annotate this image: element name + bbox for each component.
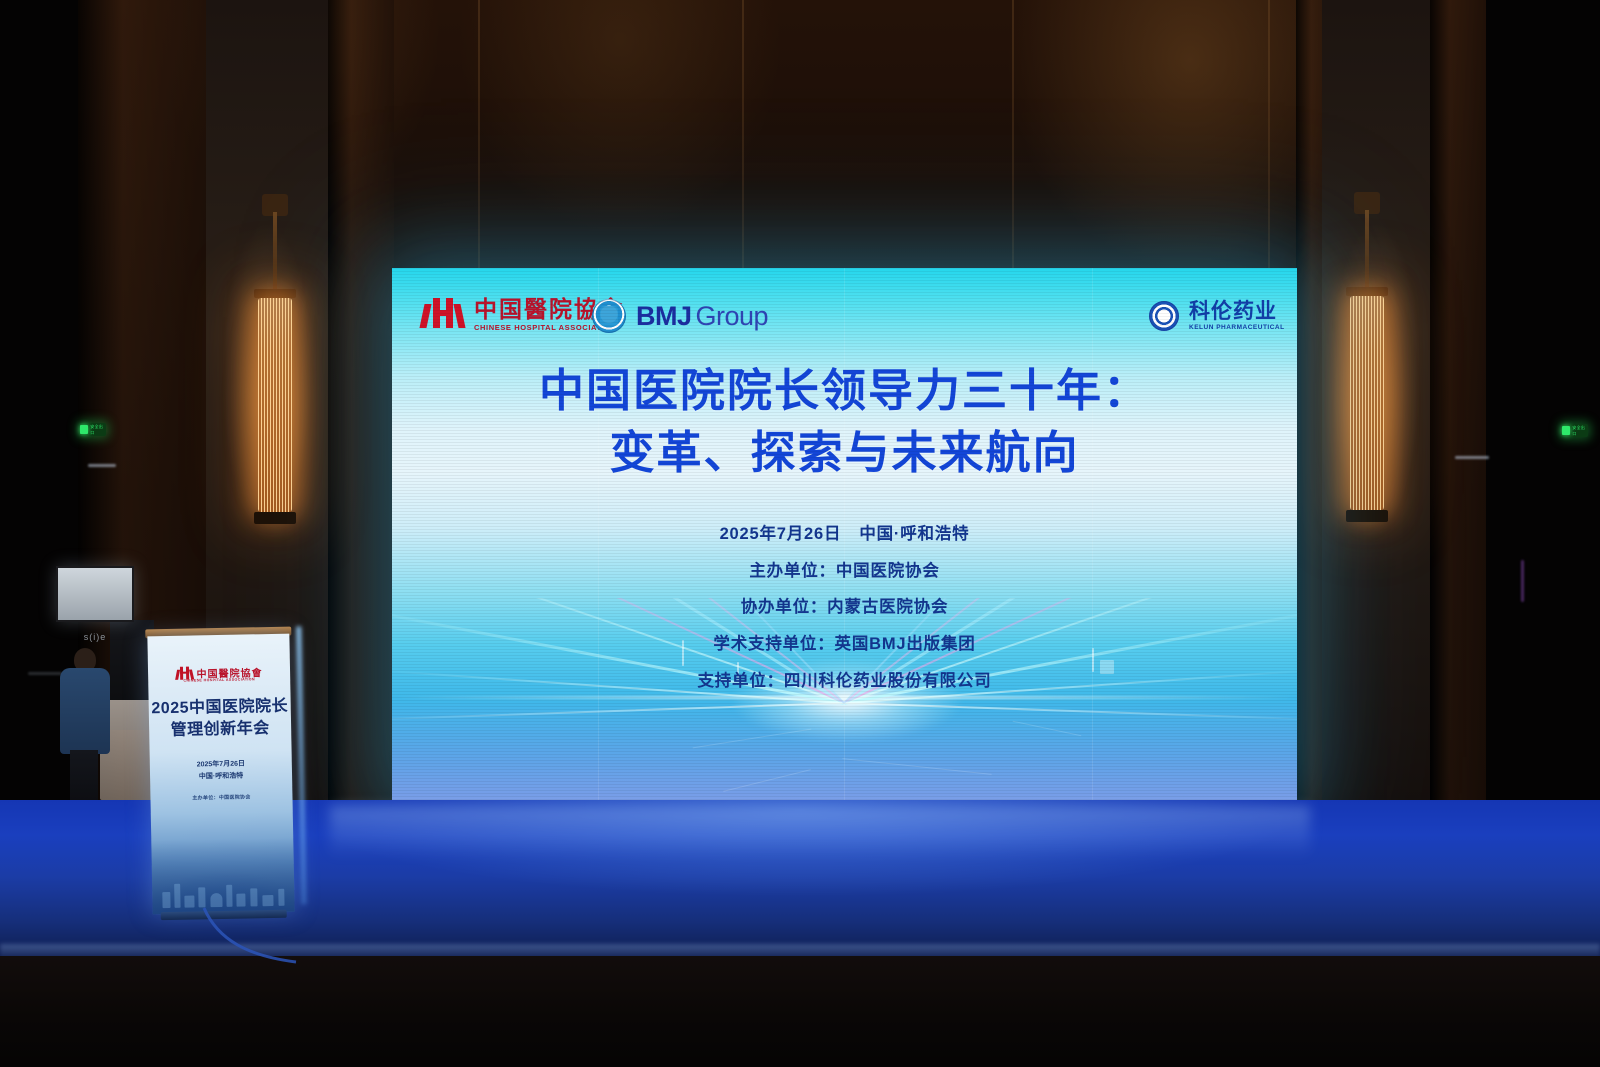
standee-title: 2025中国医院院长 管理创新年会 <box>149 696 292 743</box>
event-details: 2025年7月26日中国·呼和浩特 主办单位：中国医院协会 协办单位：内蒙古医院… <box>392 516 1297 699</box>
sconce-rod <box>273 212 277 298</box>
standee-organizer: 主办单位：中国医院协会 <box>150 793 292 803</box>
event-location: 中国·呼和浩特 <box>859 525 969 543</box>
event-detail-sponsor: 支持单位：四川科伦药业股份有限公司 <box>392 663 1297 700</box>
accent-light-sliver <box>1521 560 1524 602</box>
floor-light-sliver <box>28 672 62 675</box>
standee-skyline-graphic <box>151 838 294 915</box>
standee-meta: 2025年7月26日 中国·呼和浩特 <box>150 758 292 785</box>
wall-dark-column <box>1486 0 1600 830</box>
exit-sign-label: 安全出口 <box>1572 425 1588 437</box>
conference-stage-scene: 安全出口 安全出口 s(i)e <box>0 0 1600 1067</box>
background-person <box>58 648 110 808</box>
standee-title-line-1: 2025中国医院院长 <box>149 696 291 721</box>
led-stage-screen: 中国醫院協會 CHINESE HOSPITAL ASSOCIATION BMJG… <box>392 268 1297 806</box>
event-title-line-2: 变革、探索与未来航向 <box>392 422 1297 484</box>
event-title: 中国医院院长领导力三十年： 变革、探索与未来航向 <box>392 360 1297 484</box>
background-monitor <box>56 566 134 622</box>
kelun-seal-icon <box>1149 301 1179 331</box>
event-detail-academic-support: 学术支持单位：英国BMJ出版集团 <box>392 626 1297 663</box>
kelun-logo-en: KELUN PHARMACEUTICAL <box>1189 325 1285 332</box>
standee-cha-en: CHINESE HOSPITAL ASSOCIATION <box>148 677 290 684</box>
sconce-cap-bottom <box>1346 510 1388 522</box>
sconce-cap-top <box>254 289 296 298</box>
stage-floor-sheen <box>330 806 1310 858</box>
event-detail-organizer: 主办单位：中国医院协会 <box>392 553 1297 590</box>
bmj-word-suffix: Group <box>696 301 769 331</box>
running-man-icon <box>1562 426 1570 435</box>
bmj-seal-icon <box>592 299 626 333</box>
kelun-logo-text: 科伦药业 KELUN PHARMACEUTICAL <box>1189 301 1285 332</box>
led-screen-content: 中国醫院協會 CHINESE HOSPITAL ASSOCIATION BMJG… <box>392 268 1297 806</box>
bmj-word-main: BMJ <box>636 301 692 331</box>
podium-standee: 中国醫院協會 CHINESE HOSPITAL ASSOCIATION 2025… <box>137 626 303 919</box>
running-man-icon <box>80 425 88 434</box>
bmj-seal-inner <box>600 306 618 326</box>
podium-power-cable <box>200 906 340 966</box>
ceiling-light-sliver <box>88 464 116 467</box>
kelun-pharmaceutical-logo: 科伦药业 KELUN PHARMACEUTICAL <box>1149 301 1285 332</box>
stage-front-apron <box>0 956 1600 1067</box>
sconce-tube <box>258 298 292 512</box>
kelun-logo-cn: 科伦药业 <box>1189 301 1285 322</box>
exit-sign-left: 安全出口 <box>80 423 106 436</box>
exit-sign-right: 安全出口 <box>1562 424 1588 437</box>
wall-wood-column <box>1430 0 1486 830</box>
bmj-group-logo: BMJGroup <box>592 299 768 333</box>
event-date: 2025年7月26日 <box>720 525 842 543</box>
sconce-cap-top <box>1346 287 1388 296</box>
exit-sign-label: 安全出口 <box>90 424 106 436</box>
sponsor-logo-bar: 中国醫院協會 CHINESE HOSPITAL ASSOCIATION BMJG… <box>392 290 1297 344</box>
event-detail-date-location: 2025年7月26日中国·呼和浩特 <box>392 516 1297 553</box>
ceiling-light-sliver <box>1455 456 1489 459</box>
sconce-rod <box>1365 210 1369 296</box>
monitor-brand-label: s(i)e <box>56 628 134 646</box>
sconce-tube <box>1350 296 1384 510</box>
sconce-cap-bottom <box>254 512 296 524</box>
person-torso <box>60 668 110 754</box>
bmj-wordmark: BMJGroup <box>636 301 768 332</box>
event-detail-coorganizer: 协办单位：内蒙古医院协会 <box>392 589 1297 626</box>
standee-title-line-2: 管理创新年会 <box>149 718 291 743</box>
cha-emblem-icon <box>422 298 464 332</box>
standee-cha-logo: 中国醫院協會 CHINESE HOSPITAL ASSOCIATION <box>148 664 290 682</box>
event-title-line-1: 中国医院院长领导力三十年： <box>392 360 1297 422</box>
standee-location: 中国·呼和浩特 <box>150 770 292 785</box>
standee-board: 中国醫院協會 CHINESE HOSPITAL ASSOCIATION 2025… <box>147 634 294 915</box>
